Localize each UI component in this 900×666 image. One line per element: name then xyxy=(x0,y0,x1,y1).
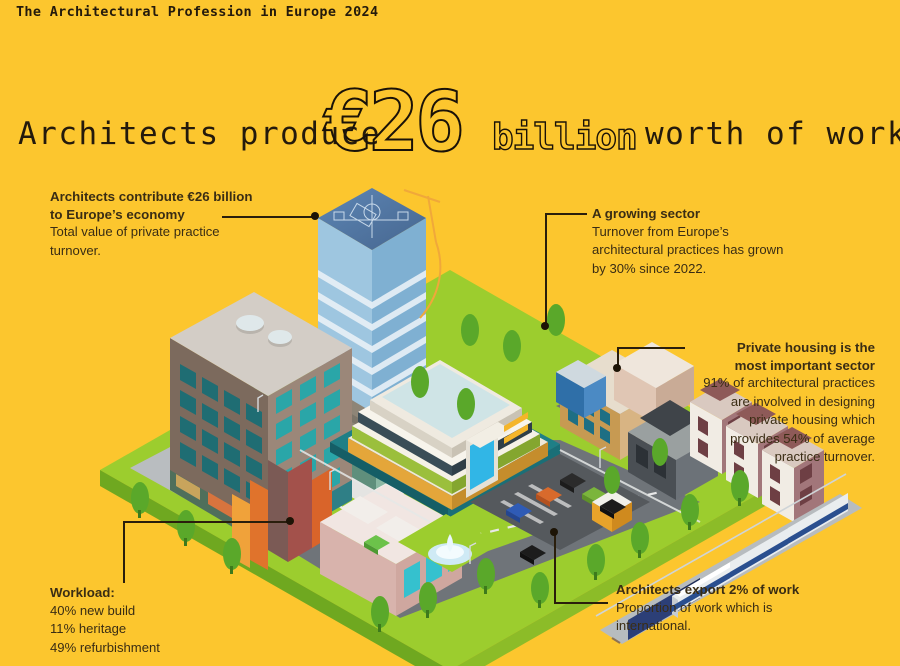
headline-suffix: worth of work xyxy=(645,116,900,152)
callout-growth-body-line3: by 30% since 2022. xyxy=(592,260,862,279)
callout-housing-body-line4: provides 54% of average xyxy=(600,430,875,449)
callout-workload-title: Workload: xyxy=(50,584,300,602)
callout-growth-body-line1: Turnover from Europe’s xyxy=(592,223,862,242)
callout-housing-title-line1: Private housing is the xyxy=(600,339,875,357)
callout-housing-body-line5: practice turnover. xyxy=(600,448,875,467)
callout-housing-body-line3: private housing which xyxy=(600,411,875,430)
callout-workload-body-line1: 40% new build xyxy=(50,602,300,621)
leader-line-workload-v xyxy=(123,521,125,583)
leader-line-growth-h xyxy=(545,213,587,215)
callout-economy-body-line1: Total value of private practice xyxy=(50,223,300,242)
callout-housing-title-line2: most important sector xyxy=(600,357,875,375)
callout-growth-title: A growing sector xyxy=(592,205,862,223)
callout-economy: Architects contribute €26 billion to Eur… xyxy=(50,188,300,260)
leader-line-export-v xyxy=(554,534,556,603)
callout-growth-body-line2: architectural practices has grown xyxy=(592,241,862,260)
callout-economy-title-line2: to Europe’s economy xyxy=(50,206,300,224)
page-kicker: The Architectural Profession in Europe 2… xyxy=(16,4,378,20)
callout-workload-body-line2: 11% heritage xyxy=(50,620,300,639)
callout-export-body-line2: international. xyxy=(616,617,881,636)
leader-dot-growth xyxy=(541,322,549,330)
leader-dot-workload xyxy=(286,517,294,525)
callout-housing-body-line2: are involved in designing xyxy=(600,393,875,412)
callout-export-title: Architects export 2% of work xyxy=(616,581,881,599)
callout-workload-body-line3: 49% refurbishment xyxy=(50,639,300,658)
infographic-canvas: The Architectural Profession in Europe 2… xyxy=(0,0,900,666)
callout-export-body-line1: Proportion of work which is xyxy=(616,599,881,618)
headline: Architects produce €26 billion worth of … xyxy=(18,86,898,156)
callout-workload: Workload: 40% new build 11% heritage 49%… xyxy=(50,584,300,657)
leader-line-workload-h xyxy=(123,521,291,523)
leader-dot-economy xyxy=(311,212,319,220)
callout-export: Architects export 2% of work Proportion … xyxy=(616,581,881,636)
leader-dot-export xyxy=(550,528,558,536)
callout-private-housing: Private housing is the most important se… xyxy=(600,339,875,467)
callout-housing-body-line1: 91% of architectural practices xyxy=(600,374,875,393)
leader-line-growth-v xyxy=(545,213,547,326)
leader-line-export-h xyxy=(554,602,608,604)
callout-growth: A growing sector Turnover from Europe’s … xyxy=(592,205,862,278)
callout-economy-title-line1: Architects contribute €26 billion xyxy=(50,188,300,206)
callout-economy-body-line2: turnover. xyxy=(50,242,300,261)
